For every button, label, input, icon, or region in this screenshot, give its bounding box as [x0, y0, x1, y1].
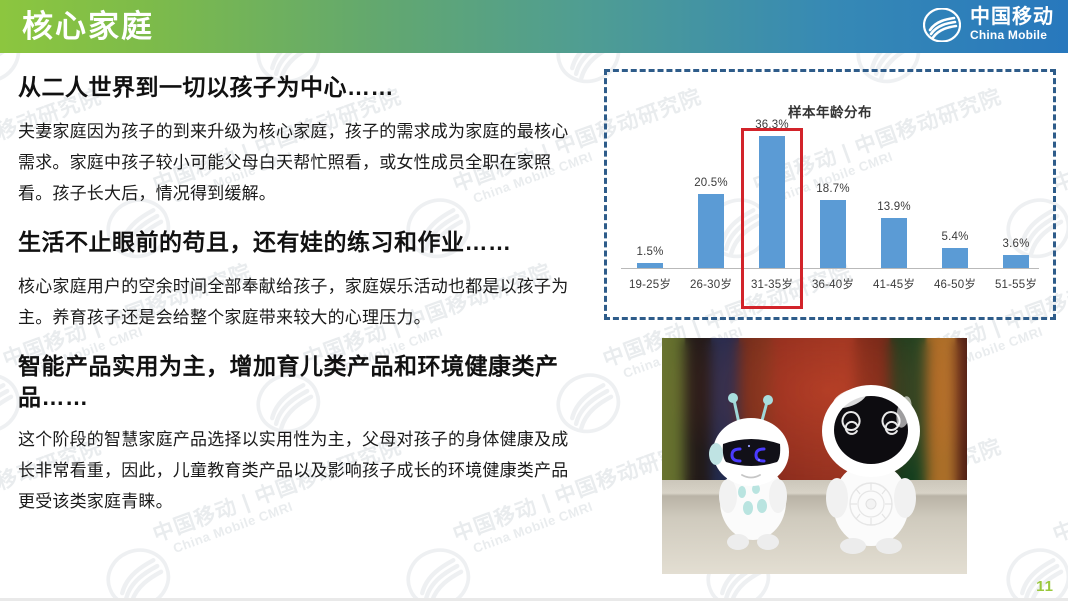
watermark-logo-icon	[98, 539, 179, 601]
chart-bar-value-label: 20.5%	[694, 177, 728, 189]
chart-bar-group: 5.4%	[926, 123, 984, 268]
watermark-text: 中国移动 | 中国移动研究院China Mobile CMRI	[1050, 435, 1068, 562]
watermark-logo-icon	[998, 539, 1068, 601]
chart-bar-group: 18.7%	[804, 123, 862, 268]
chart-title: 样本年龄分布	[607, 101, 1053, 121]
chart-highlight-box	[741, 128, 803, 309]
watermark-logo-icon	[398, 539, 479, 601]
brand-name-en: China Mobile	[970, 28, 1054, 42]
section-body-3: 这个阶段的智慧家庭产品选择以实用性为主，父母对孩子的身体健康及成长非常看重，因此…	[18, 424, 578, 517]
china-mobile-logo-icon	[923, 8, 961, 42]
page-number: 11	[1036, 578, 1054, 595]
chart-bar-group: 1.5%	[621, 123, 679, 268]
chart-x-tick-label: 46-50岁	[926, 276, 984, 292]
chart-bar-value-label: 1.5%	[636, 246, 663, 258]
chart-bar-group: 13.9%	[865, 123, 923, 268]
brand-block: 中国移动 China Mobile	[923, 7, 1054, 42]
robot-with-antennae	[704, 386, 802, 554]
chart-x-tick-label: 26-30岁	[682, 276, 740, 292]
chart-bar-group: 20.5%	[682, 123, 740, 268]
section-heading-2: 生活不止眼前的苟且，还有娃的练习和作业……	[18, 227, 578, 258]
section-heading-3: 智能产品实用为主，增加育儿类产品和环境健康类产品……	[18, 351, 578, 413]
chart-bar	[820, 200, 846, 268]
chart-panel: 样本年龄分布 1.5%20.5%36.3%18.7%13.9%5.4%3.6% …	[604, 69, 1056, 320]
section-heading-1: 从二人世界到一切以孩子为中心……	[18, 72, 578, 103]
page-title: 核心家庭	[22, 5, 154, 49]
chart-bar	[1003, 255, 1029, 268]
chart-bar-value-label: 18.7%	[816, 183, 850, 195]
chart-bar-value-label: 13.9%	[877, 201, 911, 213]
chart-x-tick-label: 41-45岁	[865, 276, 923, 292]
slide-root: 中国移动 | 中国移动研究院China Mobile CMRI中国移动 | 中国…	[0, 0, 1068, 601]
chart-bar	[881, 218, 907, 268]
chart-bar	[698, 194, 724, 268]
brand-text: 中国移动 China Mobile	[970, 7, 1054, 42]
slide-header: 核心家庭 中国移动 China Mobile	[0, 0, 1068, 53]
chart-x-axis: 19-25岁26-30岁31-35岁36-40岁41-45岁46-50岁51-5…	[617, 276, 1043, 300]
robot-with-round-head	[812, 376, 930, 554]
chart-plot-area: 1.5%20.5%36.3%18.7%13.9%5.4%3.6%	[617, 124, 1043, 269]
chart-bar-group: 3.6%	[987, 123, 1045, 268]
chart-bar	[942, 248, 968, 268]
brand-name-cn: 中国移动	[970, 7, 1054, 28]
chart-x-tick-label: 19-25岁	[621, 276, 679, 292]
chart-bar-value-label: 3.6%	[1002, 238, 1029, 250]
product-photo	[662, 338, 967, 574]
chart-bar-value-label: 5.4%	[941, 231, 968, 243]
content-column: 从二人世界到一切以孩子为中心…… 夫妻家庭因为孩子的到来升级为核心家庭，孩子的需…	[18, 72, 578, 531]
chart-x-tick-label: 51-55岁	[987, 276, 1045, 292]
chart-x-tick-label: 36-40岁	[804, 276, 862, 292]
section-body-1: 夫妻家庭因为孩子的到来升级为核心家庭，孩子的需求成为家庭的最核心需求。家庭中孩子…	[18, 116, 578, 209]
section-body-2: 核心家庭用户的空余时间全部奉献给孩子，家庭娱乐活动也都是以孩子为主。养育孩子还是…	[18, 271, 578, 333]
chart-baseline	[621, 268, 1039, 269]
